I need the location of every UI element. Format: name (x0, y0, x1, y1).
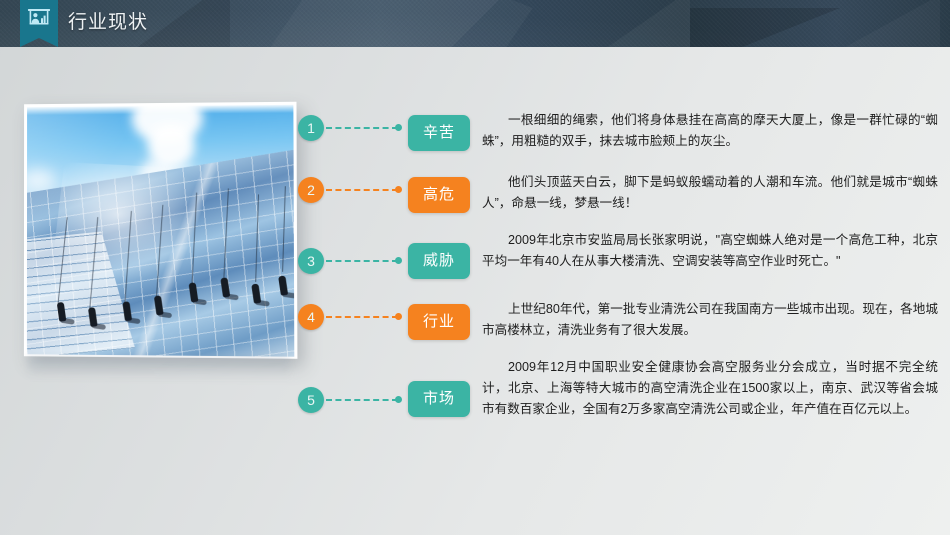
item-number-badge: 5 (298, 387, 324, 413)
cloud-shape (27, 169, 55, 191)
connector-dashed-line (326, 127, 398, 129)
item-tag-label: 高危 (408, 177, 470, 213)
page-title: 行业现状 (68, 10, 148, 36)
illustration-photo (24, 104, 292, 356)
item-tag-label: 行业 (408, 304, 470, 340)
connector-dashed-line (326, 316, 398, 318)
connector-dashed-line (326, 260, 398, 262)
item-number-badge: 1 (298, 115, 324, 141)
item-tag-label: 威胁 (408, 243, 470, 279)
connector-dashed-line (326, 189, 398, 191)
list-item: 1 辛苦 一根细细的绳索，他们将身体悬挂在高高的摩天大厦上，像是一群忙碌的“蜘蛛… (298, 112, 938, 152)
connector-end-dot (395, 396, 402, 403)
connector-end-dot (395, 257, 402, 264)
connector-end-dot (395, 124, 402, 131)
list-item: 5 市场 2009年12月中国职业安全健康协会高空服务业分会成立，当时据不完全统… (298, 359, 938, 420)
item-description: 他们头顶蓝天白云，脚下是蚂蚁般蠕动着的人潮和车流。他们就是城市“蜘蛛人”，命悬一… (470, 172, 938, 214)
content-list: 1 辛苦 一根细细的绳索，他们将身体悬挂在高高的摩天大厦上，像是一群忙碌的“蜘蛛… (298, 104, 938, 426)
presentation-chart-person-icon (26, 7, 52, 31)
list-item: 4 行业 上世纪80年代，第一批专业清洗公司在我国南方一些城市出现。现在，各地城… (298, 301, 938, 341)
photo-reflection (27, 356, 289, 378)
item-description: 2009年12月中国职业安全健康协会高空服务业分会成立，当时据不完全统计，北京、… (470, 357, 938, 420)
item-connector (324, 177, 408, 203)
item-connector (324, 115, 408, 141)
connector-dashed-line (326, 399, 398, 401)
list-item: 3 威胁 2009年北京市安监局局长张家明说，"高空蜘蛛人绝对是一个高危工种，北… (298, 232, 938, 279)
connector-end-dot (395, 313, 402, 320)
item-number-badge: 3 (298, 248, 324, 274)
list-item: 2 高危 他们头顶蓝天白云，脚下是蚂蚁般蠕动着的人潮和车流。他们就是城市“蜘蛛人… (298, 174, 938, 214)
photo-canvas (27, 105, 294, 357)
item-number-badge: 2 (298, 177, 324, 203)
item-tag-label: 辛苦 (408, 115, 470, 151)
item-connector (324, 304, 408, 330)
page-header: 行业现状 (0, 0, 950, 47)
item-connector (324, 387, 408, 413)
header-ribbon-badge (20, 0, 58, 38)
item-tag-label: 市场 (408, 381, 470, 417)
item-description: 上世纪80年代，第一批专业清洗公司在我国南方一些城市出现。现在，各地城市高楼林立… (470, 299, 938, 341)
photo-frame (24, 102, 298, 359)
item-description: 一根细细的绳索，他们将身体悬挂在高高的摩天大厦上，像是一群忙碌的“蜘蛛”，用粗糙… (470, 110, 938, 152)
item-number-badge: 4 (298, 304, 324, 330)
item-connector (324, 248, 408, 274)
item-description: 2009年北京市安监局局长张家明说，"高空蜘蛛人绝对是一个高危工种，北京平均一年… (470, 230, 938, 272)
connector-end-dot (395, 186, 402, 193)
